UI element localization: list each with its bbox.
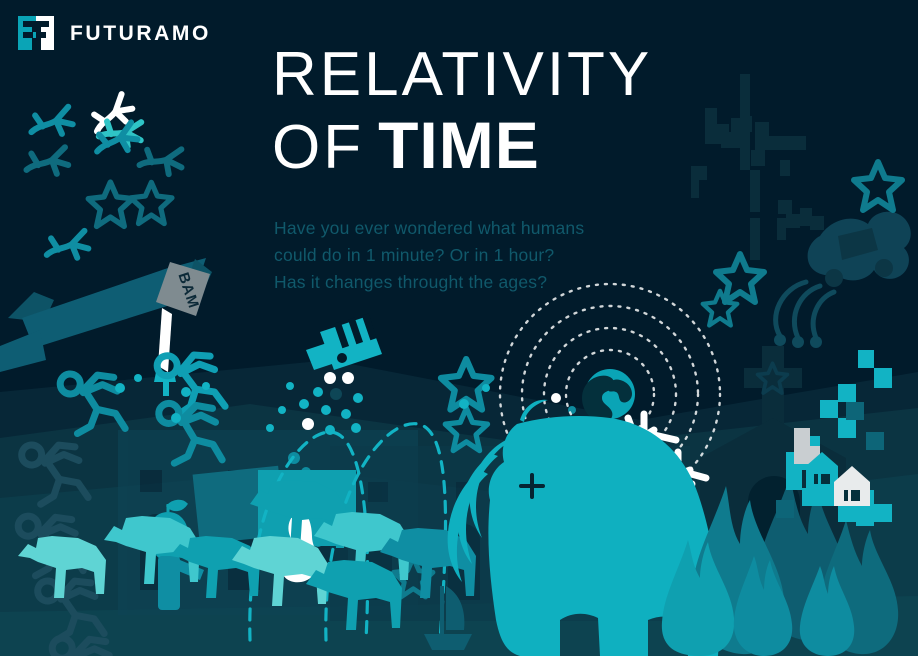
- futuramo-f-logo-icon: [18, 16, 54, 50]
- title-block: RELATIVITY OFTIME Have you ever wondered…: [272, 44, 692, 296]
- subtitle-line-2: could do in 1 minute? Or in 1 hour?: [274, 242, 692, 269]
- page-title-time: TIME: [378, 108, 540, 182]
- page-title-line-2: OFTIME: [272, 112, 692, 197]
- page-title-of: OF: [272, 113, 364, 182]
- brand-header: FUTURAMO: [18, 16, 211, 50]
- brand-name: FUTURAMO: [70, 23, 211, 44]
- page-title-line-1: RELATIVITY: [272, 44, 692, 106]
- poster-canvas: BAM: [0, 0, 918, 656]
- house-icon-white: [834, 466, 870, 506]
- subtitle-block: Have you ever wondered what humans could…: [274, 215, 692, 296]
- subtitle-line-1: Have you ever wondered what humans: [274, 215, 692, 242]
- subtitle-line-3: Has it changes throught the ages?: [274, 269, 692, 296]
